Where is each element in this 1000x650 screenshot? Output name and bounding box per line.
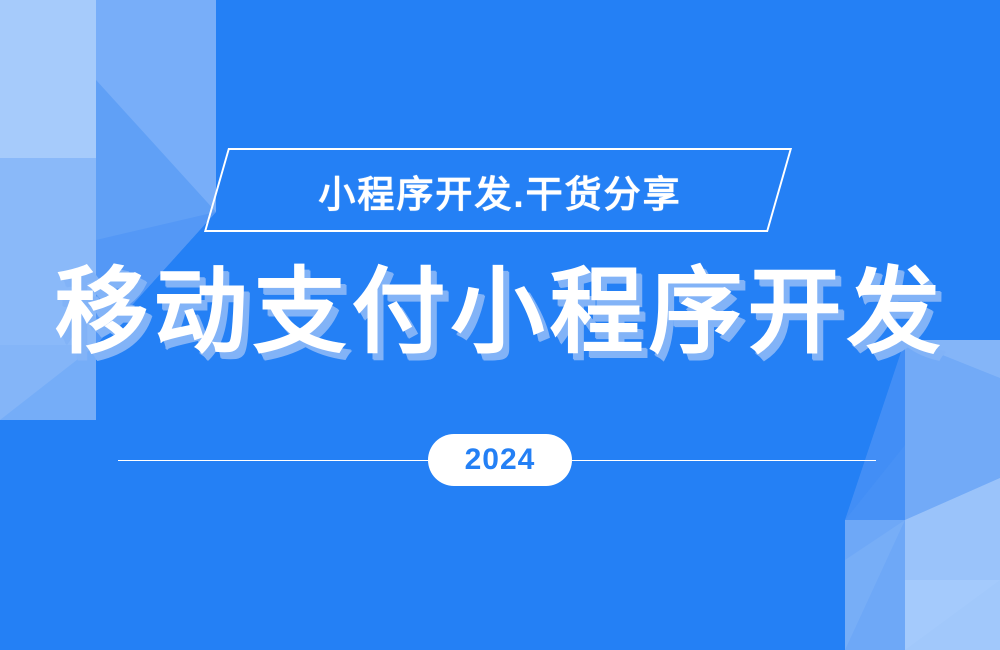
left-shape-c: [96, 0, 216, 80]
right-shape-a: [905, 340, 1000, 650]
right-shape-h: [845, 445, 905, 520]
right-shape-e: [845, 520, 905, 650]
left-shape-a: [0, 0, 96, 158]
right-shape-d: [905, 580, 1000, 650]
right-shape-g: [845, 520, 905, 650]
right-shape-c: [905, 478, 1000, 650]
page-title: 移动支付小程序开发: [0, 256, 1000, 368]
divider-left: [118, 460, 428, 461]
divider-right: [572, 460, 876, 461]
subtitle-text: 小程序开发.干货分享: [0, 152, 1000, 230]
promo-banner: 小程序开发.干货分享 移动支付小程序开发 2024: [0, 0, 1000, 650]
year-badge: 2024: [428, 434, 572, 486]
page-title-text: 移动支付小程序开发: [54, 265, 945, 359]
year-badge-text: 2024: [465, 445, 536, 475]
